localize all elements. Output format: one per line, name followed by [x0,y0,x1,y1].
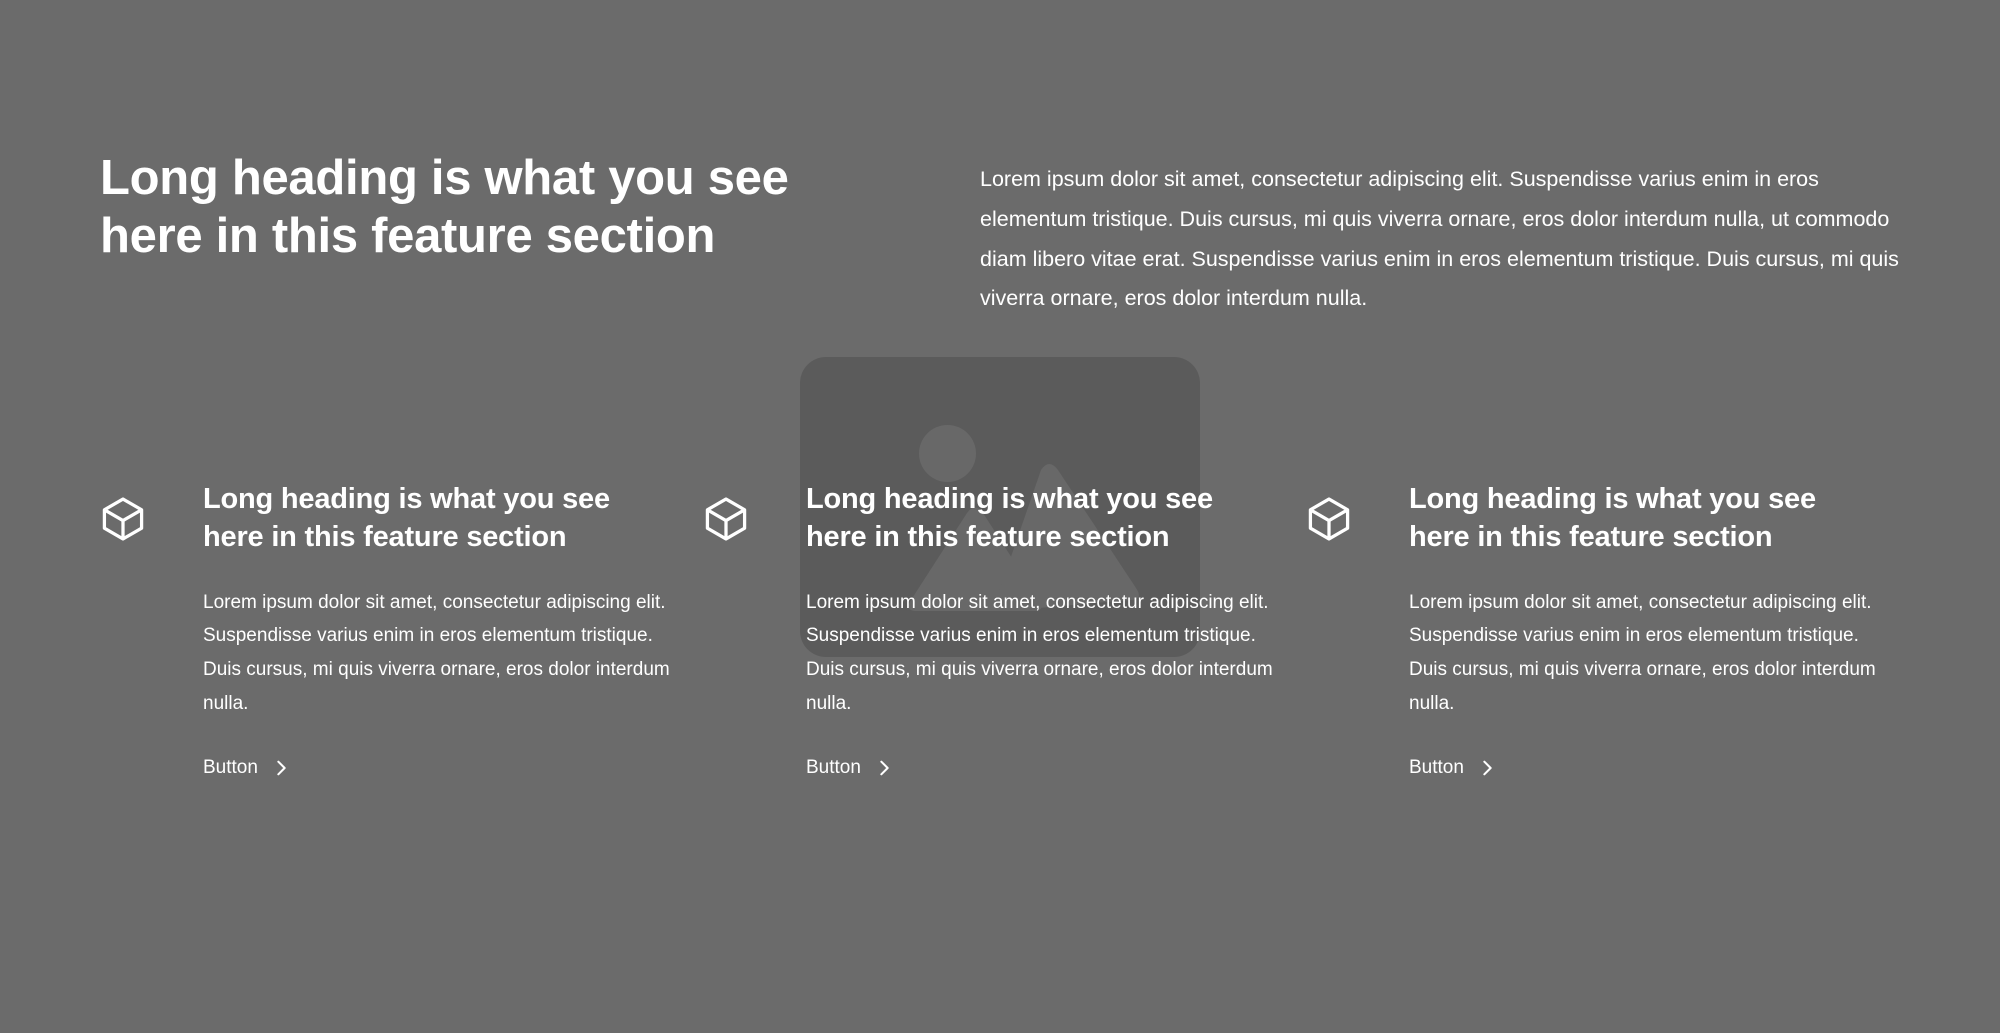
feature-card-2: Long heading is what you see here in thi… [703,480,1306,779]
page-title: Long heading is what you see here in thi… [100,150,890,319]
feature-cards-row: Long heading is what you see here in thi… [100,480,1910,779]
feature-card-body: Lorem ipsum dolor sit amet, consectetur … [1409,586,1879,721]
feature-card-button-label: Button [203,757,258,779]
feature-card-3: Long heading is what you see here in thi… [1306,480,1909,779]
feature-card-content: Long heading is what you see here in thi… [146,480,703,779]
feature-card-button-label: Button [806,757,861,779]
feature-card-body: Lorem ipsum dolor sit amet, consectetur … [203,586,673,721]
feature-section: Long heading is what you see here in thi… [0,0,2000,1033]
hero-description: Lorem ipsum dolor sit amet, consectetur … [980,150,1900,319]
feature-card-content: Long heading is what you see here in thi… [749,480,1306,779]
cube-icon [1306,496,1352,542]
hero-row: Long heading is what you see here in thi… [100,150,1900,319]
feature-card-button[interactable]: Button [203,757,288,779]
feature-card-heading: Long heading is what you see here in thi… [203,480,673,557]
cube-icon [100,496,146,542]
cube-icon [703,496,749,542]
feature-card-button[interactable]: Button [806,757,891,779]
feature-card-heading: Long heading is what you see here in thi… [806,480,1276,557]
chevron-right-icon [878,759,891,777]
feature-card-heading: Long heading is what you see here in thi… [1409,480,1879,557]
feature-card-body: Lorem ipsum dolor sit amet, consectetur … [806,586,1276,721]
chevron-right-icon [275,759,288,777]
feature-card-button-label: Button [1409,757,1464,779]
feature-card-1: Long heading is what you see here in thi… [100,480,703,779]
chevron-right-icon [1481,759,1494,777]
feature-card-button[interactable]: Button [1409,757,1494,779]
feature-card-content: Long heading is what you see here in thi… [1352,480,1909,779]
